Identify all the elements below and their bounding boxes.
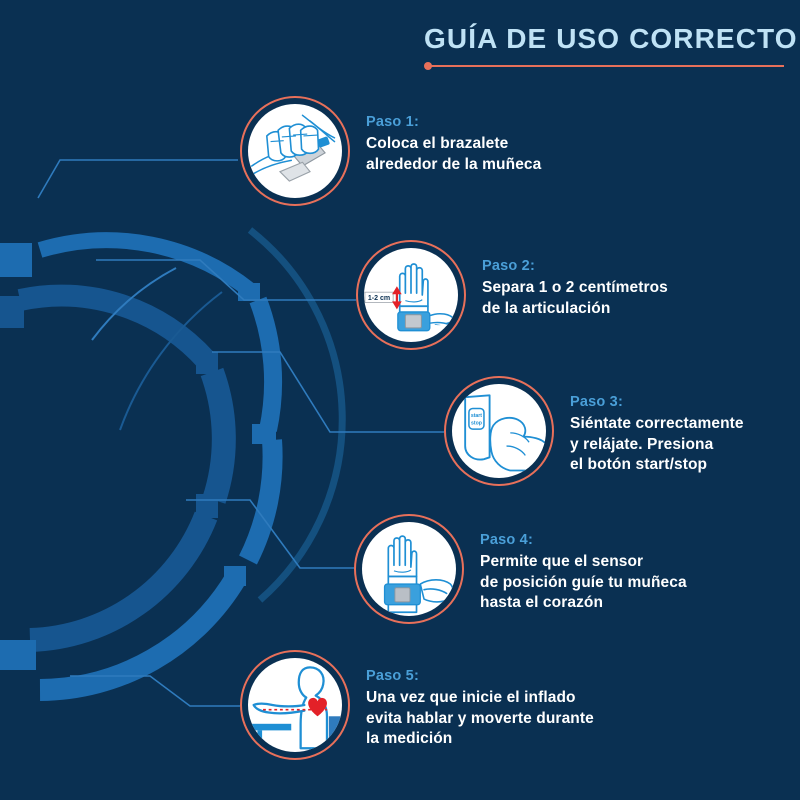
step-badge-2[interactable]: 1-2 cm [356, 240, 466, 350]
connector-step-4 [186, 500, 354, 568]
wrist-distance-measure-icon: 1-2 cm [364, 248, 458, 342]
step-label-4: Paso 4: [480, 532, 687, 548]
title-underline [424, 62, 784, 70]
svg-text:start: start [471, 413, 482, 419]
svg-text:1-2 cm: 1-2 cm [368, 295, 390, 302]
step-label-2: Paso 2: [482, 258, 668, 274]
step-item-paso-1[interactable]: Paso 1: Coloca el brazalete alrededor de… [240, 96, 541, 206]
step-body-4: Permite que el sensor de posición guíe t… [480, 552, 687, 614]
step-badge-5[interactable] [240, 650, 350, 760]
step-text-4: Paso 4: Permite que el sensor de posició… [480, 514, 687, 614]
page-title: GUÍA DE USO CORRECTO [424, 24, 784, 53]
step-text-3: Paso 3: Siéntate correctamente y relájat… [570, 376, 744, 476]
connector-step-1 [38, 160, 238, 198]
step-badge-1[interactable] [240, 96, 350, 206]
connector-step-3 [212, 352, 444, 432]
step-body-3: Siéntate correctamente y relájate. Presi… [570, 414, 744, 476]
step-body-2: Separa 1 o 2 centímetros de la articulac… [482, 278, 668, 319]
press-start-stop-button-icon: start stop [452, 384, 546, 478]
step-item-paso-4[interactable]: Paso 4: Permite que el sensor de posició… [354, 514, 687, 624]
seated-person-heart-level-icon [248, 658, 342, 752]
header: GUÍA DE USO CORRECTO [424, 24, 784, 70]
position-sensor-wrist-icon [362, 522, 456, 616]
step-text-5: Paso 5: Una vez que inicie el inflado ev… [366, 650, 594, 750]
title-underline-line [430, 65, 784, 67]
step-text-2: Paso 2: Separa 1 o 2 centímetros de la a… [482, 240, 668, 319]
step-item-paso-3[interactable]: start stop Paso 3: Siéntate correctament… [444, 376, 744, 486]
step-label-3: Paso 3: [570, 394, 744, 410]
step-body-1: Coloca el brazalete alrededor de la muñe… [366, 134, 541, 175]
infographic-canvas: GUÍA DE USO CORRECTO [0, 0, 800, 800]
hand-placing-cuff-icon [248, 104, 342, 198]
connector-step-2 [96, 260, 356, 300]
step-text-1: Paso 1: Coloca el brazalete alrededor de… [366, 96, 541, 175]
step-item-paso-5[interactable]: Paso 5: Una vez que inicie el inflado ev… [240, 650, 594, 760]
step-badge-3[interactable]: start stop [444, 376, 554, 486]
step-item-paso-2[interactable]: 1-2 cm Paso 2: Separa 1 o 2 centímetros … [356, 240, 668, 350]
step-body-5: Una vez que inicie el inflado evita habl… [366, 688, 594, 750]
step-badge-4[interactable] [354, 514, 464, 624]
step-label-1: Paso 1: [366, 114, 541, 130]
connector-step-5 [70, 676, 240, 706]
step-label-5: Paso 5: [366, 668, 594, 684]
svg-text:stop: stop [471, 420, 482, 426]
